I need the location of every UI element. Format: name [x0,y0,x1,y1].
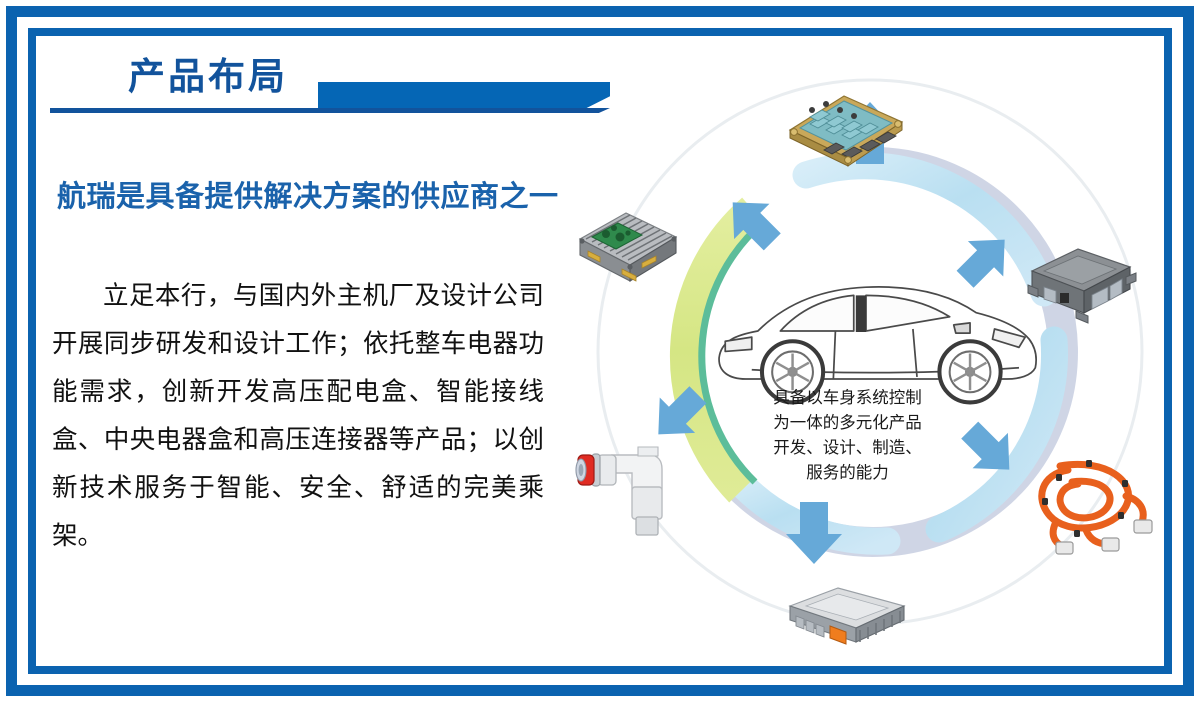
slide-root: 产品布局 航瑞是具备提供解决方案的供应商之一 立足本行，与国内外主机厂及设计公司… [0,0,1200,702]
hv-distribution-box-product [770,580,920,655]
harness-lead-a [1126,496,1143,522]
connector-contact-pin [579,464,584,476]
center-caption: 具备以车身系统控制 为一体的多元化产品 开发、设计、制造、 服务的能力 [735,386,960,486]
junction-box-product [1020,235,1145,330]
hv-connector-product [572,443,682,553]
title-underline-rule [50,108,610,113]
relay-fuse-box-product [780,78,910,173]
section-subtitle: 航瑞是具备提供解决方案的供应商之一 [57,173,559,215]
car-b-pillar [856,295,866,332]
heatsink-control-unit-product [565,198,690,298]
body-paragraph: 立足本行，与国内外主机厂及设计公司开展同步研发和设计工作；依托整车电器功能需求，… [52,272,544,560]
connector-barrel [598,455,616,485]
title-block: 产品布局 [50,52,610,114]
car-taillight [725,337,752,351]
connector-vertical-stem [632,487,662,519]
hv-cable-harness-product [1030,450,1170,560]
page-title: 产品布局 [128,52,288,102]
ring-arc-upper-right [806,166,1044,293]
car-side-mirror [954,323,970,333]
connector-elbow-body [612,455,662,489]
harness-coil-inner [1060,481,1110,518]
junctionbox-port [1060,293,1069,303]
connector-top-latch [638,447,658,456]
connector-stem-collar [636,517,658,535]
